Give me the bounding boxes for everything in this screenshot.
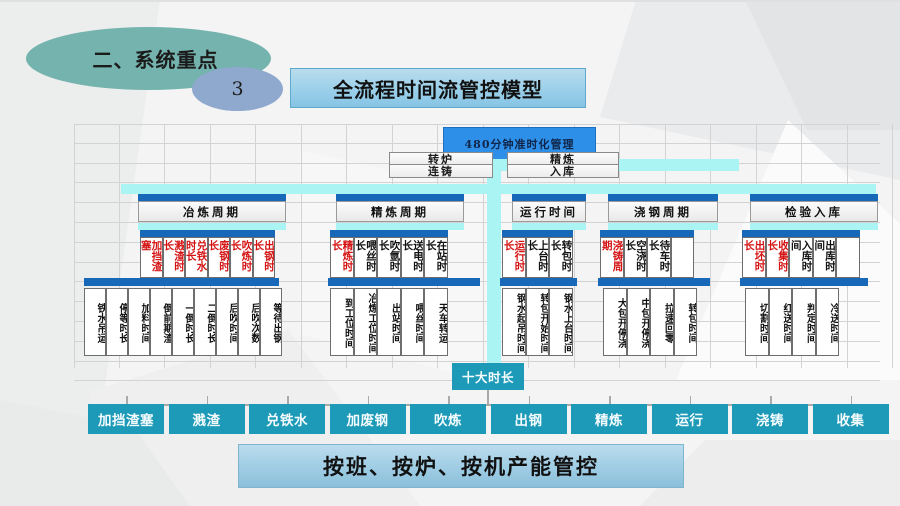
section-header-label: 检验入库 [750, 201, 878, 222]
detail-row-2: 钢水起吊时间转包开始时间钢水上台时间 [502, 288, 573, 356]
key-duration-cell: 溅渣时长 [163, 237, 186, 278]
section-header-bar [138, 194, 286, 201]
duration-box-0[interactable]: 加挡渣塞 [88, 404, 164, 434]
key-duration-cell: 上台时长 [526, 237, 550, 278]
key-duration-cell: 待车时长 [647, 237, 671, 278]
section-cyan-4 [750, 223, 878, 230]
detail-cell: 一倒时长 [172, 288, 194, 356]
key-row-top-bar [140, 230, 275, 237]
key-duration-cell: 加挡渣塞 [140, 237, 163, 278]
divider-bar-2 [500, 278, 577, 286]
section-header-bar [512, 194, 586, 201]
tree-stem [487, 390, 489, 405]
key-duration-cell: 浇铸周期 [600, 237, 624, 278]
detail-row-4: 切割时间红送时间判定时间冷送时间 [745, 288, 839, 356]
section-header-bar [336, 194, 464, 201]
detail-cell: 后吹次数 [238, 288, 260, 356]
key-duration-cell: 在站时长 [424, 237, 448, 278]
section-header-0: 冶炼周期 [138, 194, 286, 223]
key-duration-cell: 兑铁水时长 [185, 237, 208, 278]
ten-durations-title: 十大时长 [452, 363, 524, 390]
key-duration-cell: 收集时长 [766, 237, 790, 278]
detail-cell: 倒前期渣 [150, 288, 172, 356]
key-duration-cell: 喂丝时长 [354, 237, 378, 278]
key-duration-cell: 入库时间 [789, 237, 813, 278]
detail-cell: 钢水上台时间 [549, 288, 573, 356]
key-duration-cell: 空浇时长 [624, 237, 648, 278]
spine-sections [121, 184, 876, 194]
detail-cell: 中包开停浇 [627, 288, 651, 356]
section-header-1: 精炼周期 [336, 194, 464, 223]
key-duration-cell: 吹氩时长 [377, 237, 401, 278]
duration-box-2[interactable]: 兑铁水 [249, 404, 325, 434]
key-duration-cell [836, 237, 860, 278]
detail-cell: 钢水起吊时间 [502, 288, 526, 356]
section-cyan-0 [138, 223, 286, 230]
section-header-label: 精炼周期 [336, 201, 464, 222]
detail-cell: 转包开始时间 [526, 288, 550, 356]
detail-cell: 铁水吊运 [84, 288, 106, 356]
section-header-bar [608, 194, 718, 201]
section-cyan-3 [608, 223, 718, 230]
duration-box-1[interactable]: 溅渣 [169, 404, 245, 434]
detail-row-3: 大包开停浇中包开停浇拉速回零转包时间 [603, 288, 697, 356]
key-duration-row-1: 精炼时长喂丝时长吹氩时长送电时长在站时长 [330, 230, 448, 278]
key-duration-cell: 精炼时长 [330, 237, 354, 278]
detail-cell: 大包开停浇 [603, 288, 627, 356]
divider-bar-1 [328, 278, 480, 286]
key-row-top-bar [330, 230, 448, 237]
key-duration-cell [671, 237, 695, 278]
duration-box-4[interactable]: 吹炼 [410, 404, 486, 434]
key-row-top-bar [742, 230, 860, 237]
branch-right-1: 入库 [507, 164, 619, 178]
detail-row-0: 铁水吊运停等时长加料时间倒前期渣一倒时长二倒时长后吹时间后吹次数等待出钢 [84, 288, 282, 356]
key-duration-cell: 出钢时长 [253, 237, 276, 278]
key-duration-row-3: 浇铸周期空浇时长待车时长 [600, 230, 694, 278]
branch-left-1: 连铸 [389, 164, 493, 178]
key-duration-cell: 废钢时长 [208, 237, 231, 278]
duration-box-3[interactable]: 加废钢 [330, 404, 406, 434]
detail-cell: 判定时间 [792, 288, 816, 356]
key-duration-cell: 出坯时长 [742, 237, 766, 278]
section-header-label: 运行时间 [512, 201, 586, 222]
detail-cell: 切割时间 [745, 288, 769, 356]
divider-bar-3 [598, 278, 710, 286]
detail-cell: 天车转运 [424, 288, 448, 356]
key-duration-row-2: 运行时长上台时长转包时长 [502, 230, 573, 278]
key-duration-cell: 送电时长 [401, 237, 425, 278]
section-header-4: 检验入库 [750, 194, 878, 223]
detail-cell: 冶炼工位时间 [354, 288, 378, 356]
section-header-label: 浇钢周期 [608, 201, 718, 222]
section-header-2: 运行时间 [512, 194, 586, 223]
divider-bar-0 [84, 278, 279, 286]
duration-box-7[interactable]: 运行 [652, 404, 728, 434]
detail-cell: 转包时间 [674, 288, 698, 356]
detail-cell: 冷送时间 [816, 288, 840, 356]
detail-cell: 到工位时间 [330, 288, 354, 356]
footer-text: 按班、按炉、按机产能管控 [323, 451, 599, 481]
key-duration-row-0: 加挡渣塞溅渣时长兑铁水时长废钢时长吹炼时长出钢时长 [140, 230, 275, 278]
key-duration-cell: 运行时长 [502, 237, 526, 278]
key-duration-cell: 出库时间 [813, 237, 837, 278]
key-row-top-bar [502, 230, 573, 237]
section-cyan-2 [512, 223, 586, 230]
key-row-top-bar [600, 230, 694, 237]
process-diagram: 480分钟准时化管理转炉连铸精炼入库冶炼周期加挡渣塞溅渣时长兑铁水时长废钢时长吹… [0, 0, 900, 506]
section-cyan-1 [336, 223, 464, 230]
detail-row-1: 到工位时间冶炼工位时间出站时间喂丝时间天车转运 [330, 288, 448, 356]
detail-cell: 后吹时间 [216, 288, 238, 356]
detail-cell: 加料时间 [128, 288, 150, 356]
key-duration-cell: 转包时长 [549, 237, 573, 278]
detail-cell: 拉速回零 [650, 288, 674, 356]
duration-box-9[interactable]: 收集 [813, 404, 889, 434]
detail-cell: 停等时长 [106, 288, 128, 356]
section-header-3: 浇钢周期 [608, 194, 718, 223]
detail-cell: 喂丝时间 [401, 288, 425, 356]
detail-cell: 等待出钢 [260, 288, 282, 356]
duration-box-8[interactable]: 浇铸 [732, 404, 808, 434]
duration-box-5[interactable]: 出钢 [491, 404, 567, 434]
detail-cell: 出站时间 [377, 288, 401, 356]
key-duration-cell: 吹炼时长 [230, 237, 253, 278]
detail-cell: 红送时间 [769, 288, 793, 356]
footer-banner: 按班、按炉、按机产能管控 [238, 444, 684, 488]
detail-cell: 二倒时长 [194, 288, 216, 356]
section-header-bar [750, 194, 878, 201]
section-header-label: 冶炼周期 [138, 201, 286, 222]
divider-bar-4 [740, 278, 868, 286]
duration-box-6[interactable]: 精炼 [571, 404, 647, 434]
key-duration-row-4: 出坯时长收集时长入库时间出库时间 [742, 230, 860, 278]
